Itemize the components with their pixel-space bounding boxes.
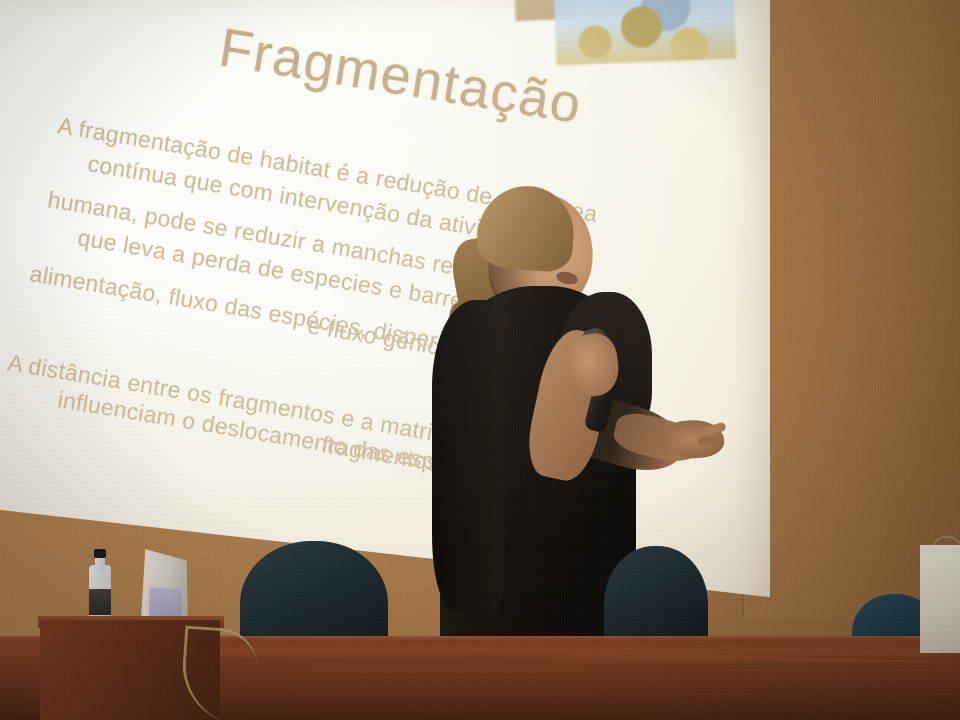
bottle-cap <box>94 549 106 558</box>
hair <box>475 183 577 273</box>
chair-left <box>240 541 388 649</box>
presentation-photo: Fragmentação A fragmentação de habitat é… <box>0 0 960 720</box>
chair-center <box>604 546 708 646</box>
bottle-label <box>89 589 111 615</box>
finger-middle <box>698 436 721 446</box>
torso-left-side <box>432 300 504 610</box>
paper-shopping-bag <box>920 545 960 653</box>
